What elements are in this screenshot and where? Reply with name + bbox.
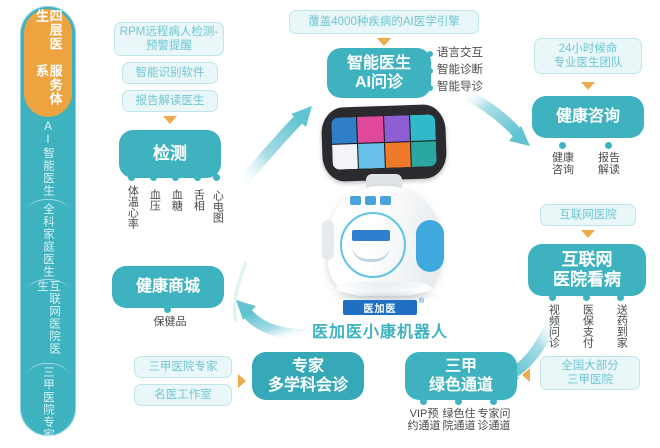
ai-input-engine[interactable]: 覆盖4000种疾病的AI医学引擎 [289,10,479,34]
expert-input-studio[interactable]: 名医工作室 [134,384,232,406]
node-green-channel-line-2: 绿色通道 [429,376,493,395]
node-expert-mdt[interactable]: 专家 多学科会诊 [252,352,364,400]
detection-dot [150,174,157,181]
detection-input-report-doctor[interactable]: 报告解读医生 [122,90,218,112]
screen-tile [384,115,410,141]
robot-chest-logo [352,230,390,241]
green-channel-dot [455,398,462,405]
ai-bullet-diagnosis: 智能诊断 [437,64,483,77]
robot-left-arm [322,220,334,260]
detection-dot [213,174,220,181]
green-channel-dot [490,398,497,405]
arrow-down-to-detection-icon [163,116,177,124]
robot-head [321,104,448,182]
health-consult-sub-report: 报告解读 [593,152,625,177]
detection-input-recognition-software[interactable]: 智能识别软件 [122,62,218,84]
detection-dot [172,174,179,181]
robot-right-arm-button[interactable] [416,220,444,272]
green-channel-input-line-1: 全国大部分 [561,359,619,373]
ai-bullet-dot [427,51,433,57]
service-tier-sidebar: 四层医生 服务体系 AI智能医生 全科家庭医生 互联网医院医生 三甲医院专家 [20,6,76,436]
arrow-to-health-consult [462,92,530,146]
node-green-channel-line-1: 三甲 [445,357,477,376]
node-internet-hospital-line-2: 医院看病 [553,270,621,290]
green-channel-sub-expert: 专家问诊通道 [476,408,512,433]
sidebar-item-label: 互联网医院医生 [36,280,60,364]
arrow-down-to-internet-hospital-icon [581,230,595,238]
sidebar-item-tertiary-hospital-expert[interactable]: 三甲医院专家 [20,364,76,436]
health-consult-dot [605,142,612,149]
internet-hospital-sub-delivery: 送药到家 [615,304,627,348]
detection-sub-temp-hr: 体温心率 [126,184,138,230]
internet-hospital-dot [617,294,624,301]
detection-dot [128,174,135,181]
green-channel-dot [420,398,427,405]
internet-hospital-sub-insurance: 医保支付 [581,304,593,348]
arrow-down-to-ai-node-icon [377,38,391,46]
robot-indicator-lights [350,196,391,205]
sidebar-item-family-doctor[interactable]: 全科家庭医生 [20,200,76,280]
node-green-channel[interactable]: 三甲 绿色通道 [405,352,517,400]
detection-dot [194,174,201,181]
brand-logo: 医加医 [343,300,417,315]
health-consult-input[interactable]: 24小时候命 专业医生团队 [534,38,642,74]
ai-bullet-voice: 语言交互 [437,47,483,60]
screen-tile [410,114,436,140]
health-consult-dot [559,142,566,149]
expert-input-hospital-expert[interactable]: 三甲医院专家 [134,356,232,378]
sidebar-header: 四层医生 服务体系 [24,9,72,117]
robot-illustration [300,104,470,304]
health-consult-input-line-1: 24小时候命 [559,42,618,56]
arrow-right-to-expert-node-icon [238,374,246,388]
internet-hospital-dot [583,294,590,301]
ai-bullet-triage: 智能导诊 [437,81,483,94]
health-consult-input-line-2: 专业医生团队 [554,56,623,70]
brand-registered-mark: ® [419,298,424,305]
node-ai-consult[interactable]: 智能医生 AI问诊 [327,48,431,98]
detection-sub-ecg: 心电图 [211,184,223,228]
node-expert-mdt-line-2: 多学科会诊 [268,376,348,395]
node-expert-mdt-line-1: 专家 [292,357,324,376]
sidebar-item-label: 全科家庭医生 [42,203,54,278]
green-channel-input-line-2: 三甲医院 [567,373,613,387]
detection-input-rpm[interactable]: RPM远程病人检测-预警提醒 [114,22,224,56]
sidebar-header-line-1: 四层医生 [34,9,61,63]
arrow-down-to-health-consult-icon [581,82,595,90]
infographic-canvas: 四层医生 服务体系 AI智能医生 全科家庭医生 互联网医院医生 三甲医院专家 R… [0,0,660,448]
detection-sub-bp: 血压 [148,184,160,216]
ai-bullet-dot [427,68,433,74]
indicator-light [380,196,391,205]
sidebar-item-label: AI智能医生 [42,121,54,197]
sidebar-header-text: 四层医生 服务体系 [34,9,61,117]
detection-sub-glucose: 血糖 [170,184,182,216]
health-consult-sub-consult: 健康咨询 [547,152,579,177]
sidebar-item-internet-hospital-doctor[interactable]: 互联网医院医生 [20,280,76,364]
internet-hospital-input[interactable]: 互联网医院 [540,204,636,226]
node-health-consult[interactable]: 健康咨询 [532,96,644,138]
health-mall-sub-supplements: 保健品 [142,316,198,328]
internet-hospital-dot [549,294,556,301]
node-health-mall[interactable]: 健康商城 [112,266,224,308]
robot-chest-ring [340,212,406,278]
green-channel-sub-vip: VIP预约通道 [406,408,442,433]
robot-caption: 医加医小康机器人 [280,318,480,342]
screen-tile [411,141,437,167]
indicator-light [350,196,361,205]
screen-tile [384,142,410,168]
screen-tile [332,143,358,169]
sidebar-item-ai-doctor[interactable]: AI智能医生 [20,118,76,200]
ai-bullet-dot [427,85,433,91]
green-channel-input[interactable]: 全国大部分 三甲医院 [540,356,640,390]
arrow-left-to-green-channel-icon [522,368,530,382]
node-ai-consult-line-2: AI问诊 [355,73,403,92]
detection-sub-tongue: 舌相 [192,184,204,216]
node-detection[interactable]: 检测 [119,130,221,178]
screen-tile [357,116,383,142]
robot-screen[interactable] [331,114,437,170]
node-internet-hospital-line-1: 互联网 [562,250,613,270]
indicator-light [365,196,376,205]
screen-tile [331,117,357,143]
health-mall-dot [164,306,171,313]
sidebar-header-line-2: 服务体系 [34,64,61,118]
green-channel-sub-inpatient: 绿色住院通道 [441,408,477,433]
sidebar-item-label: 三甲医院专家 [42,366,54,437]
node-ai-consult-line-1: 智能医生 [347,54,411,73]
node-internet-hospital[interactable]: 互联网 医院看病 [528,244,646,296]
screen-tile [358,143,384,169]
internet-hospital-sub-video: 视频问诊 [547,304,559,348]
